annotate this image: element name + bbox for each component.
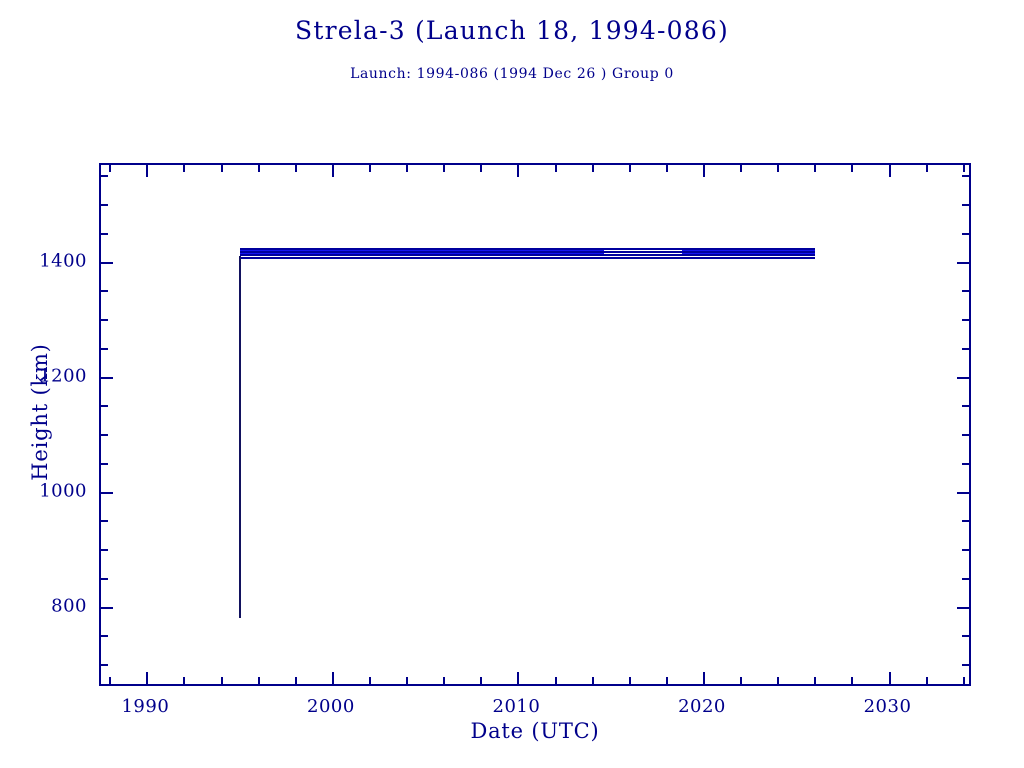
y-tick-right-1550 (962, 175, 969, 177)
x-tick-top-2022 (740, 165, 742, 172)
x-tick-2014 (592, 677, 594, 684)
x-tick-top-2020 (703, 165, 705, 177)
y-tick-right-1500 (962, 204, 969, 206)
x-tick-2028 (851, 677, 853, 684)
x-tick-1990 (146, 672, 148, 684)
x-tick-1994 (221, 677, 223, 684)
y-tick-700 (101, 664, 108, 666)
x-tick-top-2004 (406, 165, 408, 172)
trace-apogee-lower (240, 251, 816, 253)
y-tick-1350 (101, 290, 108, 292)
y-tick-right-900 (962, 549, 969, 551)
y-tick-right-700 (962, 664, 969, 666)
x-tick-2008 (480, 677, 482, 684)
y-tick-right-1000 (957, 492, 969, 494)
y-tick-right-1350 (962, 290, 969, 292)
page-title: Strela-3 (Launch 18, 1994-086) (0, 16, 1024, 45)
x-tick-2006 (443, 677, 445, 684)
y-tick-1100 (101, 434, 108, 436)
x-tick-2018 (666, 677, 668, 684)
chart-subtitle: Launch: 1994-086 (1994 Dec 26 ) Group 0 (0, 66, 1024, 82)
y-tick-1400 (101, 262, 113, 264)
y-tick-1450 (101, 233, 108, 235)
y-tick-800 (101, 607, 113, 609)
y-tick-right-1050 (962, 463, 969, 465)
y-tick-1250 (101, 348, 108, 350)
x-tick-top-2006 (443, 165, 445, 172)
plot-area (101, 165, 969, 684)
y-tick-750 (101, 635, 108, 637)
y-tick-right-1100 (962, 434, 969, 436)
x-tick-2034 (963, 677, 965, 684)
y-tick-1150 (101, 405, 108, 407)
x-tick-2000 (332, 672, 334, 684)
plot-frame (99, 163, 971, 686)
trace-perigee (240, 257, 816, 259)
x-tick-2032 (926, 677, 928, 684)
x-tick-top-1988 (109, 165, 111, 172)
x-tick-1998 (295, 677, 297, 684)
x-tick-top-2024 (777, 165, 779, 172)
x-tick-2012 (555, 677, 557, 684)
x-tick-2022 (740, 677, 742, 684)
x-tick-top-1990 (146, 165, 148, 177)
x-tick-label-1990: 1990 (121, 696, 169, 717)
y-tick-right-1250 (962, 348, 969, 350)
y-tick-1050 (101, 463, 108, 465)
x-tick-2004 (406, 677, 408, 684)
y-tick-1200 (101, 377, 113, 379)
x-tick-label-2000: 2000 (307, 696, 355, 717)
x-tick-top-2030 (889, 165, 891, 177)
y-tick-label-1400: 1400 (7, 250, 87, 271)
x-tick-top-1996 (258, 165, 260, 172)
x-tick-top-2008 (480, 165, 482, 172)
y-tick-right-800 (957, 607, 969, 609)
trace-insertion-drop (239, 256, 241, 618)
x-tick-top-1994 (221, 165, 223, 172)
x-tick-label-2010: 2010 (493, 696, 541, 717)
x-tick-top-2012 (555, 165, 557, 172)
x-tick-top-2018 (666, 165, 668, 172)
x-tick-2030 (889, 672, 891, 684)
trace-apogee-upper (240, 248, 816, 250)
x-tick-top-2014 (592, 165, 594, 172)
y-tick-right-850 (962, 578, 969, 580)
x-tick-2026 (814, 677, 816, 684)
x-tick-2024 (777, 677, 779, 684)
y-tick-right-1150 (962, 405, 969, 407)
x-tick-1992 (183, 677, 185, 684)
y-tick-950 (101, 520, 108, 522)
x-tick-top-2016 (629, 165, 631, 172)
x-tick-label-2020: 2020 (678, 696, 726, 717)
x-tick-1988 (109, 677, 111, 684)
y-tick-1550 (101, 175, 108, 177)
y-tick-1000 (101, 492, 113, 494)
x-tick-top-2002 (369, 165, 371, 172)
y-tick-right-1400 (957, 262, 969, 264)
x-tick-top-2032 (926, 165, 928, 172)
y-tick-label-1200: 1200 (7, 365, 87, 386)
y-tick-label-1000: 1000 (7, 480, 87, 501)
y-tick-right-1300 (962, 319, 969, 321)
x-tick-2010 (517, 672, 519, 684)
trace-mean-altitude (240, 254, 816, 256)
x-tick-2016 (629, 677, 631, 684)
x-tick-top-2010 (517, 165, 519, 177)
y-tick-1300 (101, 319, 108, 321)
y-tick-right-950 (962, 520, 969, 522)
x-tick-top-1992 (183, 165, 185, 172)
x-tick-2002 (369, 677, 371, 684)
x-tick-1996 (258, 677, 260, 684)
y-tick-right-1450 (962, 233, 969, 235)
x-tick-top-2034 (963, 165, 965, 172)
x-tick-label-2030: 2030 (864, 696, 912, 717)
y-tick-850 (101, 578, 108, 580)
y-tick-1500 (101, 204, 108, 206)
x-tick-top-2000 (332, 165, 334, 177)
y-tick-label-800: 800 (7, 595, 87, 616)
x-tick-top-1998 (295, 165, 297, 172)
x-tick-top-2028 (851, 165, 853, 172)
chart-page: Strela-3 (Launch 18, 1994-086) Launch: 1… (0, 0, 1024, 768)
x-tick-top-2026 (814, 165, 816, 172)
y-tick-900 (101, 549, 108, 551)
y-tick-right-750 (962, 635, 969, 637)
y-tick-right-1200 (957, 377, 969, 379)
x-tick-2020 (703, 672, 705, 684)
x-axis-title: Date (UTC) (99, 719, 971, 743)
